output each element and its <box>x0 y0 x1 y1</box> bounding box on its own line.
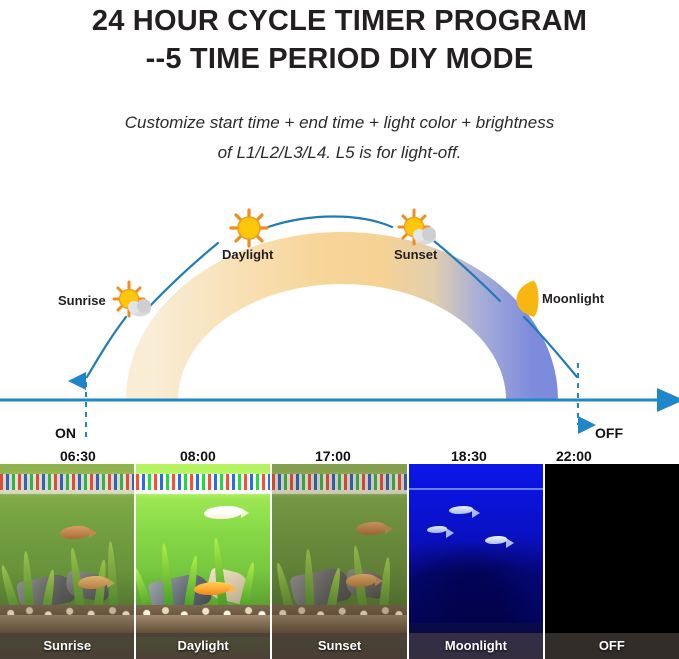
sunset-tint <box>272 464 407 659</box>
panel-caption-sunrise: Sunrise <box>0 633 134 659</box>
panel-caption-sunset: Sunset <box>272 633 407 659</box>
aquarium-photo-moonlight <box>409 464 542 659</box>
led-bar-icon <box>136 474 269 490</box>
fish <box>204 506 242 519</box>
photo-panel-off: OFF <box>545 464 679 659</box>
panel-caption-moonlight: Moonlight <box>409 633 542 659</box>
tick-label-1830: 18:30 <box>451 448 487 464</box>
panel-caption-daylight: Daylight <box>136 633 269 659</box>
on-label: ON <box>55 425 76 441</box>
tick-label-0630: 06:30 <box>60 448 96 464</box>
page-title: 24 HOUR CYCLE TIMER PROGRAM --5 TIME PER… <box>0 2 679 78</box>
tick-label-2200: 22:00 <box>556 448 592 464</box>
lighting-mode-photo-strip: Sunrise Daylight <box>0 464 679 659</box>
page-subtitle: Customize start time + end time + light … <box>0 108 679 168</box>
node-label-daylight: Daylight <box>222 247 273 262</box>
tick-label-1700: 17:00 <box>315 448 351 464</box>
panel-caption-off: OFF <box>545 633 679 659</box>
sunrise-tint <box>0 464 134 659</box>
water-line <box>409 488 542 490</box>
title-line-1: 24 HOUR CYCLE TIMER PROGRAM <box>0 2 679 40</box>
photo-panel-moonlight: Moonlight <box>409 464 542 659</box>
tick-label-0800: 08:00 <box>180 448 216 464</box>
subtitle-line-1: Customize start time + end time + light … <box>0 108 679 138</box>
off-label: OFF <box>595 425 623 441</box>
node-label-moonlight: Moonlight <box>542 291 604 306</box>
photo-panel-sunset: Sunset <box>272 464 407 659</box>
fish <box>449 506 473 514</box>
photo-panel-sunrise: Sunrise <box>0 464 134 659</box>
aquarium-photo-daylight <box>136 464 269 659</box>
day-cycle-diagram: Sunrise Daylight <box>0 185 679 460</box>
aquarium-photo-off <box>545 464 679 659</box>
node-label-sunrise: Sunrise <box>58 293 106 308</box>
fish <box>427 526 447 533</box>
node-label-sunset: Sunset <box>394 247 437 262</box>
diagram-canvas <box>0 185 679 460</box>
subtitle-line-2: of L1/L2/L3/L4. L5 is for light-off. <box>0 138 679 168</box>
aquarium-photo-sunrise <box>0 464 134 659</box>
plant-silhouettes <box>409 537 542 633</box>
cycle-arc <box>152 258 532 400</box>
aquarium-photo-sunset <box>272 464 407 659</box>
photo-panel-daylight: Daylight <box>136 464 269 659</box>
timer-program-infographic: 24 HOUR CYCLE TIMER PROGRAM --5 TIME PER… <box>0 0 679 659</box>
title-line-2: --5 TIME PERIOD DIY MODE <box>0 40 679 78</box>
water-line <box>136 490 269 494</box>
